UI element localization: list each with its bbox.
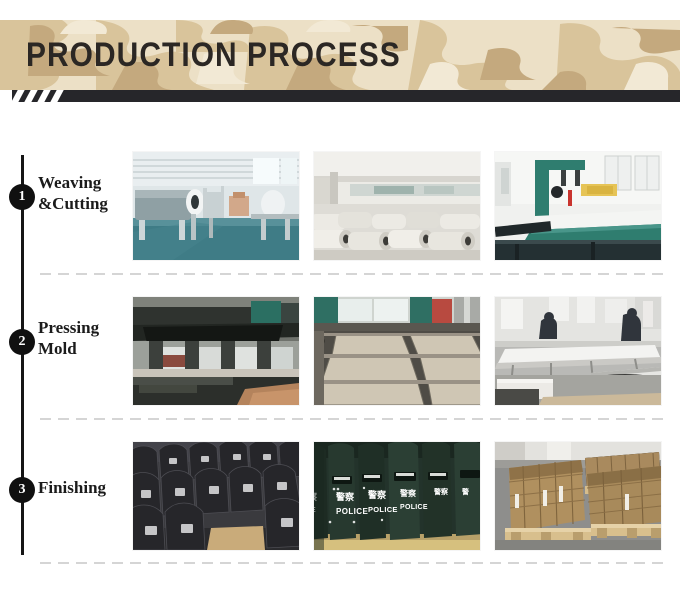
header-accent-bar: [0, 90, 680, 102]
svg-text:警察: 警察: [368, 489, 387, 500]
step-label-1-line1: Weaving: [38, 172, 130, 193]
step-separator-3: [40, 562, 670, 564]
photo-weaving-workshop-machines[interactable]: [133, 152, 299, 260]
production-process-page: PRODUCTION PROCESS 1 Weaving &Cutting: [0, 0, 680, 607]
step-label-2-line1: Pressing: [38, 317, 130, 338]
svg-text:POLICE: POLICE: [400, 504, 428, 511]
step-label-2-line2: Mold: [38, 338, 130, 359]
photo-hydraulic-press-machine[interactable]: [133, 297, 299, 405]
step-label-1-line2: &Cutting: [38, 193, 130, 214]
photo-packed-cartons-on-pallets[interactable]: [495, 442, 661, 550]
step-label-3-line1: Finishing: [38, 477, 130, 498]
page-title: PRODUCTION PROCESS: [26, 34, 401, 76]
svg-text:POLICE: POLICE: [336, 507, 368, 516]
svg-text:POLICE: POLICE: [368, 505, 398, 514]
step-separator-2: [40, 418, 670, 420]
photo-pressed-mold-panels[interactable]: [314, 297, 480, 405]
step-separator-1: [40, 273, 670, 275]
svg-text:警察: 警察: [399, 488, 417, 498]
photo-green-cutting-machine[interactable]: [495, 152, 661, 260]
page-header: PRODUCTION PROCESS: [0, 20, 680, 90]
photo-fabric-rolls-warehouse[interactable]: [314, 152, 480, 260]
step-badge-2: 2: [10, 330, 34, 354]
photo-workshop-assembly-tables[interactable]: [495, 297, 661, 405]
svg-text:警察: 警察: [434, 487, 449, 496]
step-badge-3: 3: [10, 478, 34, 502]
photo-police-riot-shields[interactable]: 察 CE 警察 POLICE 警察 POLICE 警察 POLICE 警察 警: [314, 442, 480, 550]
step-label-1: Weaving &Cutting: [38, 172, 130, 214]
accent-bar-notch: [0, 90, 12, 102]
svg-text:警察: 警察: [336, 491, 355, 502]
svg-text:警: 警: [462, 487, 469, 496]
step-label-3: Finishing: [38, 477, 130, 498]
step-label-2: Pressing Mold: [38, 317, 130, 359]
photo-black-ballistic-panel-stacks[interactable]: [133, 442, 299, 550]
accent-slash-4: [47, 90, 66, 102]
step-badge-1: 1: [10, 185, 34, 209]
